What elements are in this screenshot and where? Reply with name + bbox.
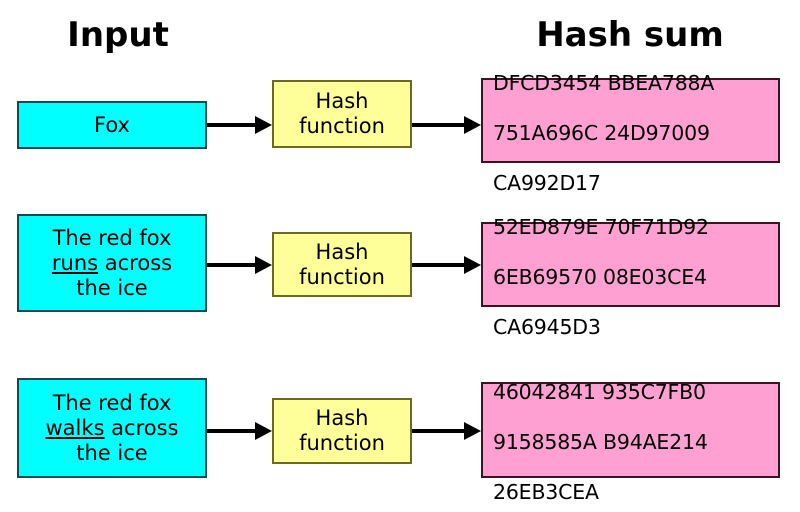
input-text-row-2: The red fox runs across the ice [52, 226, 172, 301]
hash-line-1: 52ED879E 70F71D92 [493, 215, 709, 239]
hash-function-label-row-3: Hashfunction [299, 406, 385, 456]
arrow-head [464, 256, 481, 274]
arrow-line [207, 263, 255, 267]
hash-sum-box-row-2: 52ED879E 70F71D92 6EB69570 08E03CE4 CA69… [481, 222, 780, 307]
hash-line-1: DFCD3454 BBEA788A [493, 71, 714, 95]
input-line-3: the ice [76, 276, 147, 300]
hash-line-3: 26EB3CEA [493, 480, 599, 504]
arrow-head [464, 116, 481, 134]
arrow-line [412, 123, 464, 127]
arrow-line [207, 429, 255, 433]
arrow-head [255, 116, 272, 134]
hash-function-label-row-2: Hashfunction [299, 240, 385, 290]
hash-sum-text-row-1: DFCD3454 BBEA788A 751A696C 24D97009 CA99… [493, 46, 714, 196]
hash-line-2: 6EB69570 08E03CE4 [493, 265, 707, 289]
hash-sum-text-row-2: 52ED879E 70F71D92 6EB69570 08E03CE4 CA69… [493, 190, 709, 340]
hash-line-1: 46042841 935C7FB0 [493, 380, 706, 404]
column-heading-input: Input [18, 18, 218, 52]
arrow-head [255, 256, 272, 274]
arrow-head [255, 422, 272, 440]
input-box-row-1: Fox [17, 101, 207, 149]
input-box-row-2: The red fox runs across the ice [17, 214, 207, 312]
hash-line-2: 9158585A B94AE214 [493, 430, 708, 454]
input-text-row-1: Fox [94, 113, 130, 138]
hash-function-box-row-3: Hashfunction [272, 398, 412, 464]
hash-line-2: 751A696C 24D97009 [493, 121, 710, 145]
hash-sum-box-row-1: DFCD3454 BBEA788A 751A696C 24D97009 CA99… [481, 78, 780, 163]
input-line-1: The red fox [53, 226, 172, 250]
hash-function-box-row-2: Hashfunction [272, 232, 412, 297]
input-line-2-rest: across [98, 251, 172, 275]
hash-function-label-row-1: Hashfunction [299, 89, 385, 139]
hash-sum-box-row-3: 46042841 935C7FB0 9158585A B94AE214 26EB… [481, 382, 780, 478]
hash-function-diagram: Input Hash sum Fox Hashfunction DFCD3454… [0, 0, 800, 512]
input-text-row-3: The red fox walks across the ice [46, 391, 179, 466]
input-box-row-3: The red fox walks across the ice [17, 378, 207, 478]
hash-line-3: CA6945D3 [493, 315, 601, 339]
arrow-line [412, 429, 464, 433]
arrow-line [412, 263, 464, 267]
arrow-line [207, 123, 255, 127]
hash-function-box-row-1: Hashfunction [272, 80, 412, 148]
arrow-head [464, 422, 481, 440]
input-emphasis-word: walks [46, 416, 105, 440]
input-line-1: The red fox [53, 391, 172, 415]
input-line-2-rest: across [104, 416, 178, 440]
hash-sum-text-row-3: 46042841 935C7FB0 9158585A B94AE214 26EB… [493, 355, 708, 505]
input-emphasis-word: runs [52, 251, 98, 275]
input-line-3: the ice [76, 441, 147, 465]
